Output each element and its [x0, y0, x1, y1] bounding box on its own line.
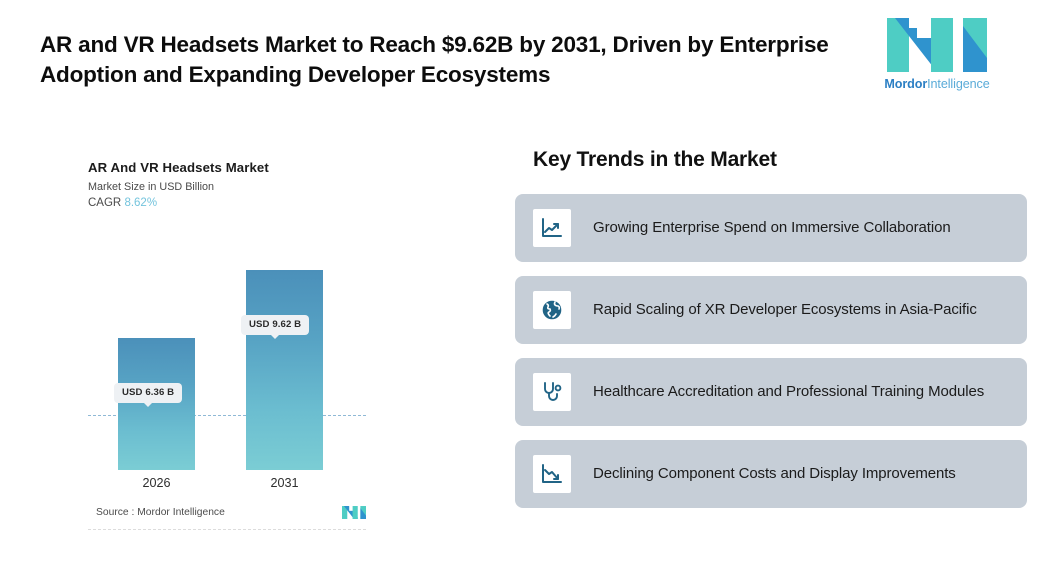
brand-word-bold: Mordor [884, 77, 927, 91]
chart-plot-area: USD 6.36 B USD 9.62 B [88, 238, 366, 470]
chart-down-icon [533, 455, 571, 493]
trend-card-3[interactable]: Healthcare Accreditation and Professiona… [515, 358, 1027, 426]
x-tick-2026: 2026 [118, 476, 195, 490]
x-tick-2031: 2031 [246, 476, 323, 490]
key-trends-title: Key Trends in the Market [533, 148, 1027, 172]
cagr-value: 8.62% [124, 197, 157, 209]
chart-up-icon [533, 209, 571, 247]
trend-card-4[interactable]: Declining Component Costs and Display Im… [515, 440, 1027, 508]
key-trends-panel: Key Trends in the Market Growing Enterpr… [515, 148, 1027, 522]
chart-cagr: CAGR 8.62% [88, 197, 366, 209]
value-label-2031: USD 9.62 B [241, 315, 309, 335]
cagr-label: CAGR [88, 197, 121, 209]
chart-x-axis: 2026 2031 [88, 476, 366, 496]
chart-title: AR And VR Headsets Market [88, 160, 366, 175]
page-title: AR and VR Headsets Market to Reach $9.62… [40, 30, 850, 90]
brand-word-light: Intelligence [927, 77, 990, 91]
market-size-chart: AR And VR Headsets Market Market Size in… [88, 160, 366, 532]
trend-card-1[interactable]: Growing Enterprise Spend on Immersive Co… [515, 194, 1027, 262]
brand-wordmark: MordorIntelligence [884, 77, 989, 91]
source-brand-mark-icon [342, 505, 366, 520]
mordor-intelligence-mark [887, 18, 987, 72]
chart-bottom-rule [88, 529, 366, 530]
bar-2026 [118, 338, 195, 470]
trend-label-2: Rapid Scaling of XR Developer Ecosystems… [593, 299, 977, 320]
source-value: Mordor Intelligence [137, 507, 225, 518]
brand-logo: MordorIntelligence [881, 18, 993, 91]
chart-source-text: Source : Mordor Intelligence [96, 507, 225, 518]
stethoscope-icon [533, 373, 571, 411]
globe-icon [533, 291, 571, 329]
source-label: Source : [96, 507, 134, 518]
value-label-2026: USD 6.36 B [114, 383, 182, 403]
trend-label-4: Declining Component Costs and Display Im… [593, 463, 956, 484]
trend-label-1: Growing Enterprise Spend on Immersive Co… [593, 217, 951, 238]
trend-label-3: Healthcare Accreditation and Professiona… [593, 381, 984, 402]
trend-card-2[interactable]: Rapid Scaling of XR Developer Ecosystems… [515, 276, 1027, 344]
chart-subtitle: Market Size in USD Billion [88, 181, 366, 193]
page-header: AR and VR Headsets Market to Reach $9.62… [0, 0, 1063, 112]
chart-source-row: Source : Mordor Intelligence [96, 505, 366, 520]
bar-2031 [246, 270, 323, 470]
